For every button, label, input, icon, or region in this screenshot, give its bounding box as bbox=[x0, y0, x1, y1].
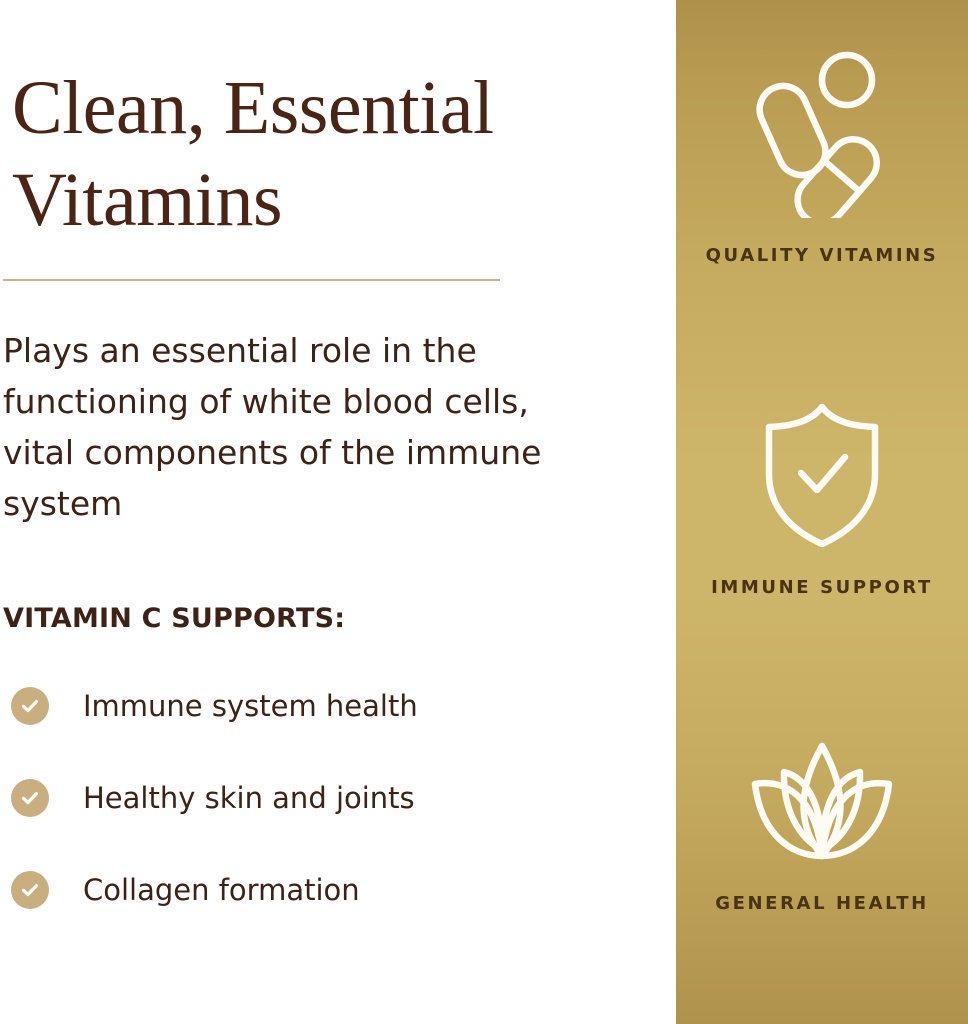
list-item: Healthy skin and joints bbox=[3, 775, 603, 821]
feature-label: QUALITY VITAMINS bbox=[706, 239, 939, 273]
list-item-label: Collagen formation bbox=[83, 873, 360, 907]
feature-label: GENERAL HEALTH bbox=[715, 887, 928, 921]
check-circle-icon bbox=[11, 687, 49, 725]
content-column: Clean, Essential Vitamins Plays an essen… bbox=[0, 0, 676, 1024]
list-item: Immune system health bbox=[3, 683, 603, 729]
list-item: Collagen formation bbox=[3, 867, 603, 913]
promo-panel: Clean, Essential Vitamins Plays an essen… bbox=[0, 0, 968, 1024]
page-title: Clean, Essential Vitamins bbox=[12, 62, 632, 246]
pills-icon bbox=[747, 48, 897, 223]
check-circle-icon bbox=[11, 779, 49, 817]
feature-quality-vitamins: QUALITY VITAMINS bbox=[676, 48, 968, 273]
title-divider bbox=[3, 279, 500, 281]
benefits-list: Immune system health Healthy skin and jo… bbox=[3, 683, 603, 913]
description-text: Plays an essential role in the functioni… bbox=[3, 325, 563, 529]
check-circle-icon bbox=[11, 871, 49, 909]
lotus-flower-icon bbox=[739, 738, 905, 871]
feature-label: IMMUNE SUPPORT bbox=[711, 571, 933, 605]
feature-general-health: GENERAL HEALTH bbox=[676, 738, 968, 921]
supports-heading: VITAMIN C SUPPORTS: bbox=[3, 603, 345, 635]
shield-check-icon bbox=[757, 400, 887, 555]
feature-sidebar: QUALITY VITAMINS IMMUNE SUPPORT bbox=[676, 0, 968, 1024]
list-item-label: Immune system health bbox=[83, 689, 418, 723]
feature-immune-support: IMMUNE SUPPORT bbox=[676, 400, 968, 605]
list-item-label: Healthy skin and joints bbox=[83, 781, 415, 815]
